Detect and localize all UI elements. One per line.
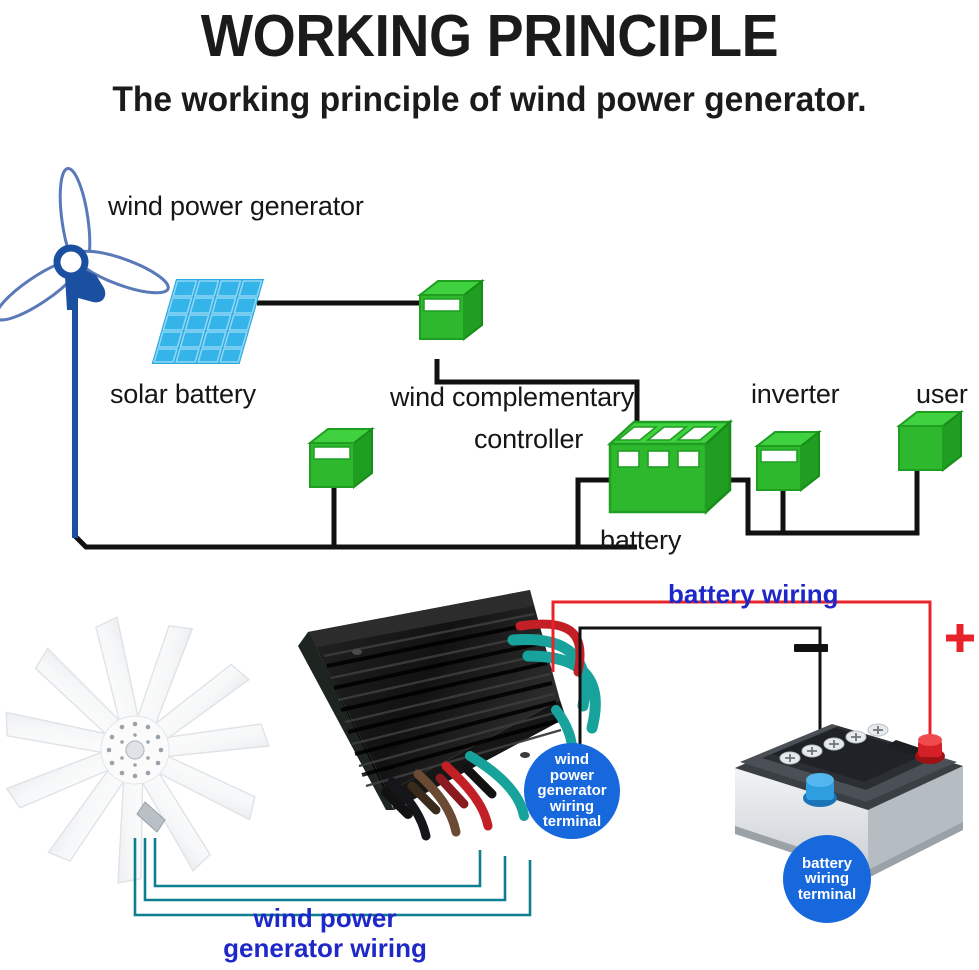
bubble-line: generator: [534, 783, 609, 799]
inverter-icon: [757, 432, 819, 490]
label-inverter: inverter: [751, 379, 839, 410]
label-generator-wiring: wind power generator wiring: [185, 903, 465, 963]
page-header: WORKING PRINCIPLE The working principle …: [0, 0, 979, 140]
label-generator-wiring-line1: wind power: [185, 903, 465, 933]
bubble-line: power: [534, 768, 609, 784]
page-title: WORKING PRINCIPLE: [29, 2, 949, 70]
label-generator-wiring-line2: generator wiring: [185, 933, 465, 963]
plus-sign-icon: [946, 624, 974, 652]
bubble-line: wind: [534, 752, 609, 768]
battery-positive-terminal: [915, 734, 945, 764]
label-wind-power-generator: wind power generator: [108, 191, 364, 222]
label-controller-line2: controller: [474, 424, 583, 455]
battery-icon: [610, 422, 730, 512]
bubble-line: wiring: [795, 871, 859, 887]
callout-generator-wiring-terminal: wind power generator wiring terminal: [524, 743, 620, 839]
system-schematic-diagram: wind power generator solar battery wind …: [0, 150, 979, 565]
label-controller-line1: wind complementary: [390, 382, 634, 413]
label-battery: battery: [600, 525, 681, 556]
wire-bus-bottom: [75, 536, 637, 547]
bubble-line: battery: [795, 856, 859, 872]
wind-turbine-icon: [0, 167, 172, 538]
label-solar-battery: solar battery: [110, 379, 256, 410]
bubble-line: wiring: [534, 799, 609, 815]
callout-battery-wiring-terminal: battery wiring terminal: [783, 835, 871, 923]
minus-sign-icon: [794, 644, 828, 652]
user-icon: [899, 412, 961, 470]
page-subtitle: The working principle of wind power gene…: [20, 80, 960, 120]
bubble-line: terminal: [795, 887, 859, 903]
controller-box-icon: [420, 281, 482, 339]
label-battery-wiring: battery wiring: [668, 579, 838, 610]
lower-left-box-icon: [310, 429, 372, 487]
label-user: user: [916, 379, 968, 410]
solar-panel-icon: [152, 279, 264, 364]
bubble-line: terminal: [534, 814, 609, 830]
battery-negative-terminal: [803, 773, 837, 807]
